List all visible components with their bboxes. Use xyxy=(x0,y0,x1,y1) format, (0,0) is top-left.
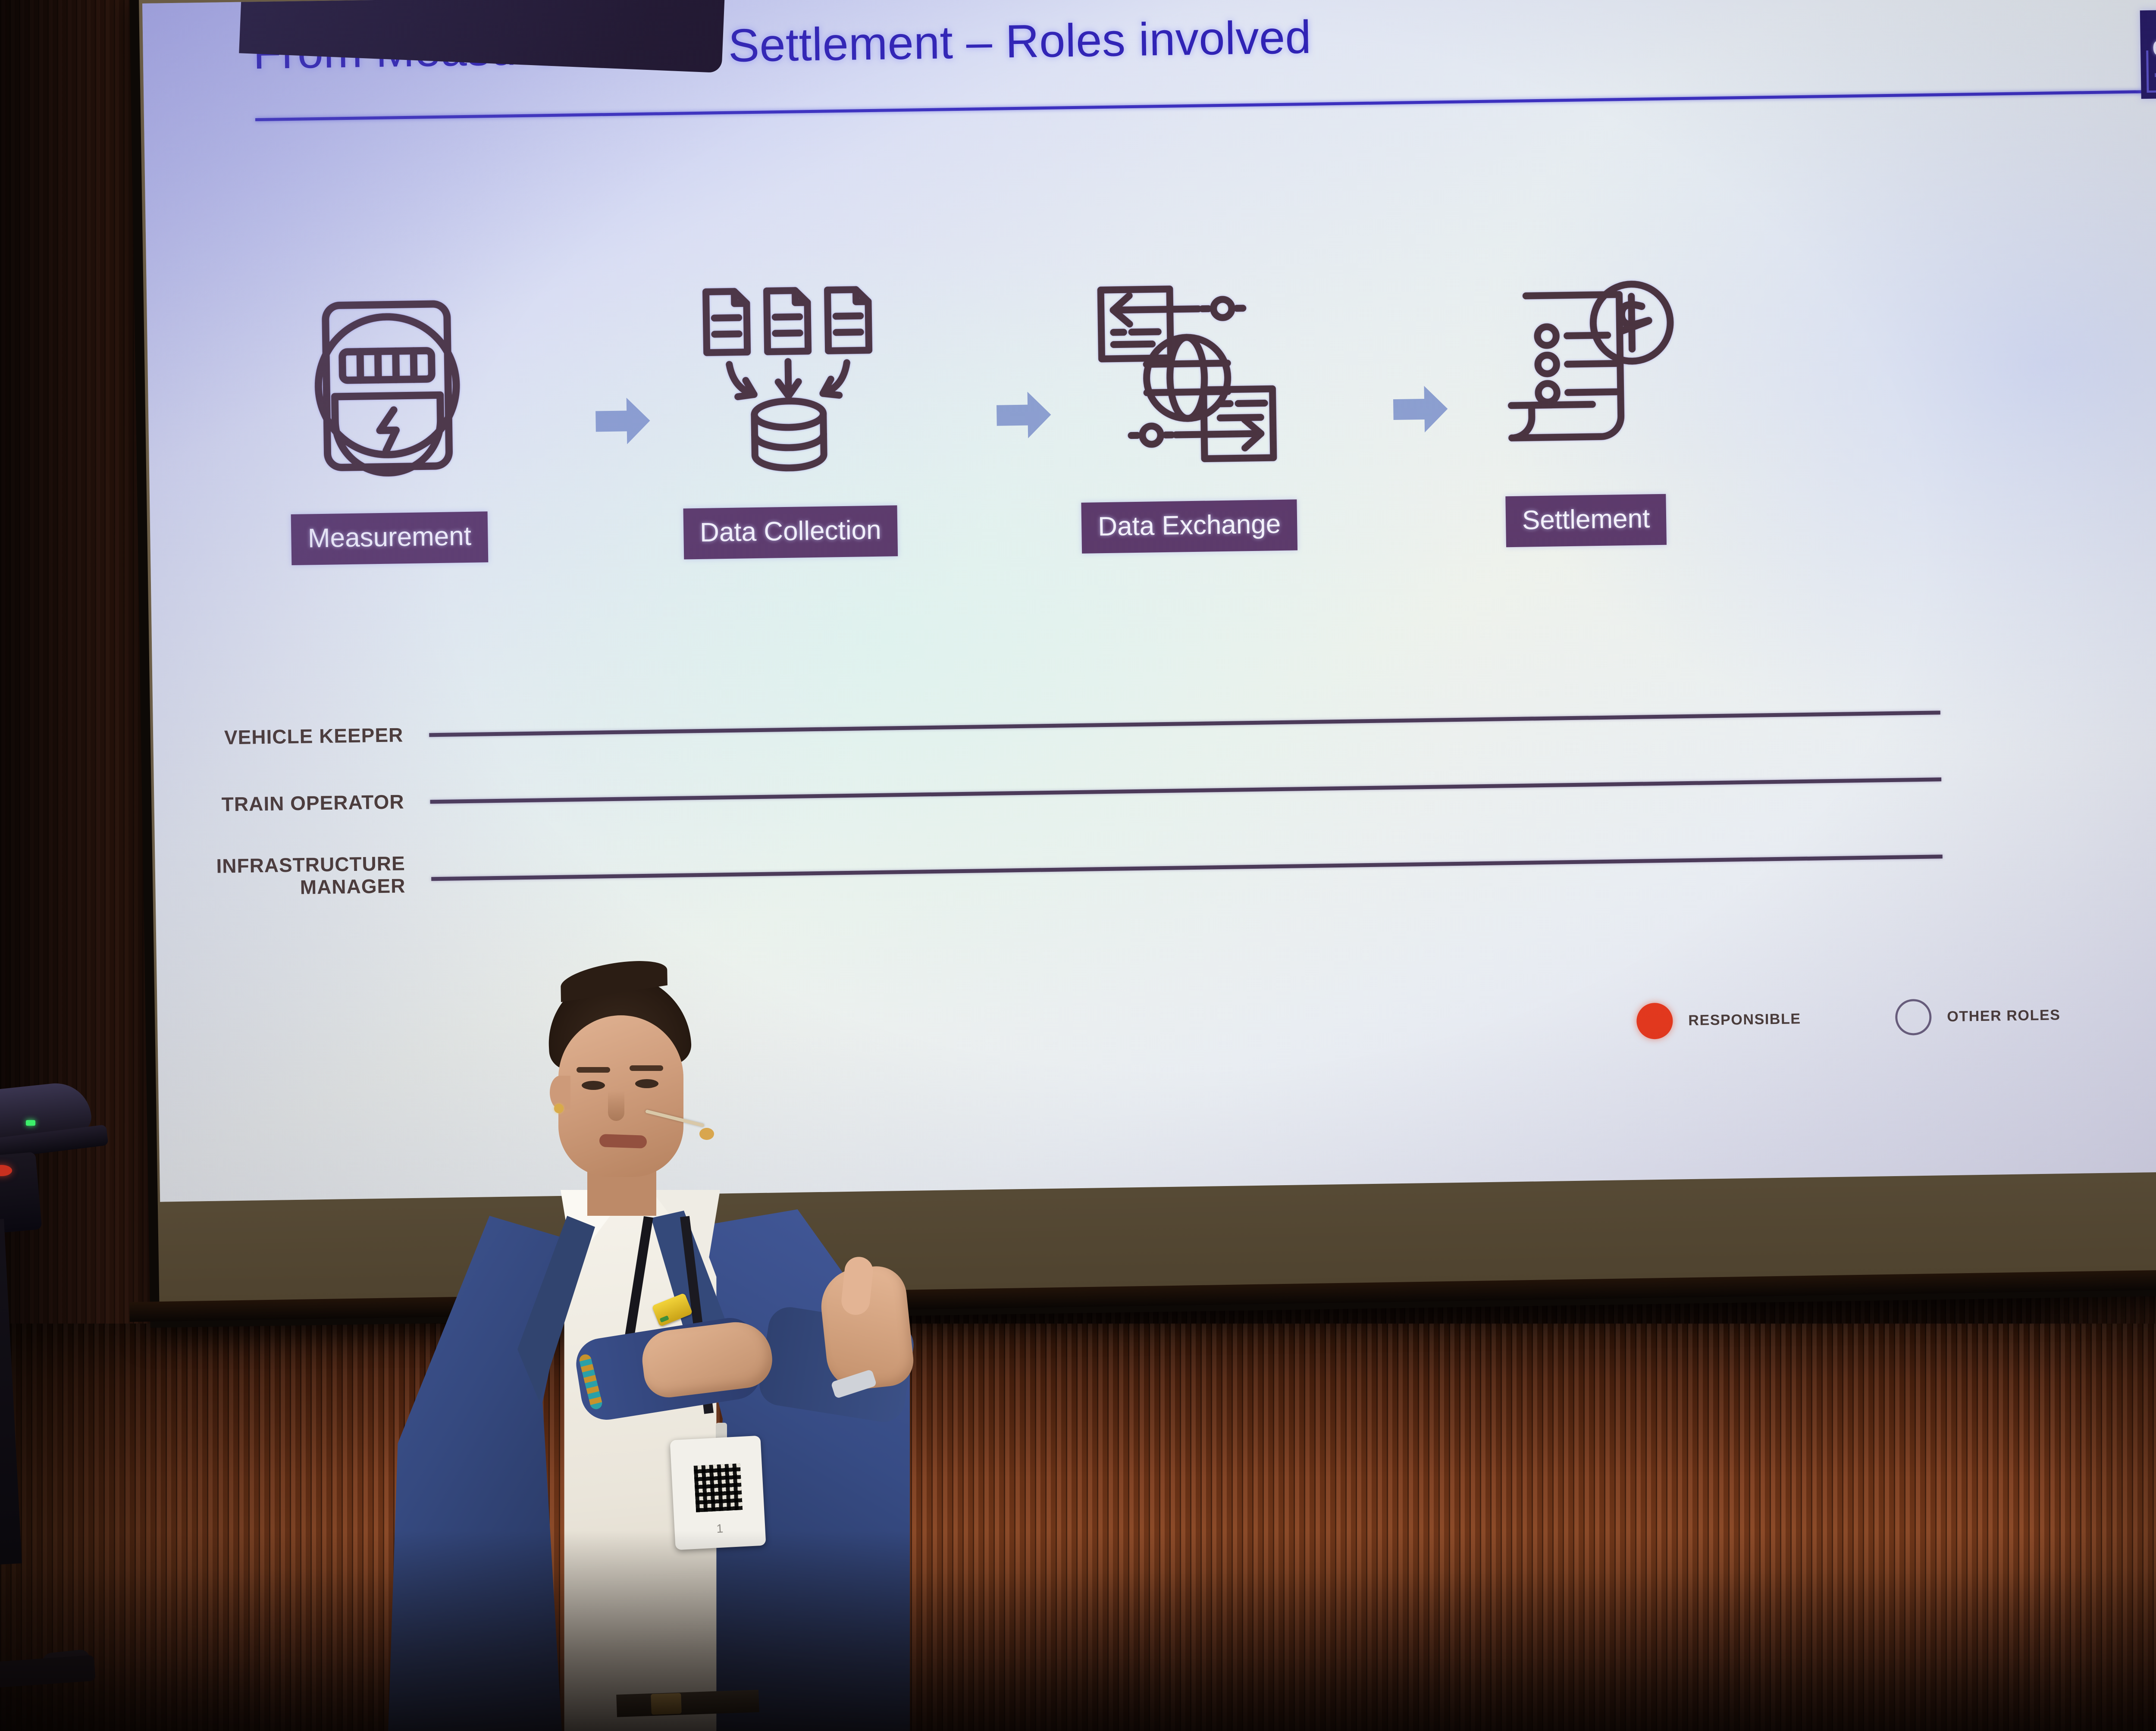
legend-item-responsible: RESPONSIBLE xyxy=(1636,1001,1802,1039)
legend-label: RESPONSIBLE xyxy=(1688,1011,1801,1029)
camera-status-led xyxy=(26,1120,35,1126)
role-line xyxy=(431,855,1943,881)
eye-left xyxy=(582,1081,605,1090)
mouth xyxy=(599,1134,647,1149)
invoice-dollar-icon xyxy=(1442,239,1726,498)
electricity-meter-icon xyxy=(245,257,530,515)
role-line xyxy=(430,777,1941,804)
logo-square-accent xyxy=(2146,50,2156,93)
legend: RESPONSIBLE OTHER ROLES xyxy=(1636,990,2156,1055)
eye-right xyxy=(635,1079,658,1088)
qr-code-icon xyxy=(694,1463,743,1512)
hollow-circle-icon xyxy=(1895,999,1932,1036)
process-flow: Measurement xyxy=(146,230,2156,650)
process-step-label: Settlement xyxy=(1505,494,1667,548)
role-label: TRAIN OPERATOR xyxy=(163,791,404,817)
title-underline xyxy=(255,89,2156,121)
process-step-measurement: Measurement xyxy=(245,257,530,566)
role-label: VEHICLE KEEPER xyxy=(162,724,404,750)
legend-label: OTHER ROLES xyxy=(1947,1007,2061,1025)
nose xyxy=(608,1091,624,1121)
camera-body xyxy=(0,1152,42,1237)
globe-document-exchange-icon xyxy=(1045,244,1329,503)
process-step-label: Data Exchange xyxy=(1081,499,1297,553)
role-row-vehicle-keeper: VEHICLE KEEPER xyxy=(153,695,2156,779)
headset-microphone-capsule xyxy=(699,1128,714,1140)
tripod-column xyxy=(0,1219,22,1566)
eyebrow-right xyxy=(630,1065,663,1071)
stage-floor-shadow xyxy=(0,1531,2156,1731)
process-step-label: Measurement xyxy=(291,511,488,565)
role-label: INFRASTRUCTURE MANAGER xyxy=(163,852,405,900)
earring xyxy=(554,1104,564,1113)
process-step-data-exchange: Data Exchange xyxy=(1045,244,1330,554)
role-timeline: VEHICLE KEEPER TRAIN OPERATOR INFRASTRUC… xyxy=(153,695,2156,727)
process-step-data-collection: Data Collection xyxy=(646,250,931,560)
right-arrow-icon xyxy=(590,388,655,456)
process-step-label: Data Collection xyxy=(683,505,898,559)
process-step-settlement: Settlement xyxy=(1442,239,1727,548)
legend-item-other-roles: OTHER ROLES xyxy=(1895,997,2061,1036)
documents-to-database-icon xyxy=(646,250,931,509)
eress-logo: eress xyxy=(2140,9,2156,99)
eyebrow-left xyxy=(577,1067,610,1073)
filled-circle-icon xyxy=(1636,1003,1673,1039)
role-line xyxy=(429,711,1940,737)
